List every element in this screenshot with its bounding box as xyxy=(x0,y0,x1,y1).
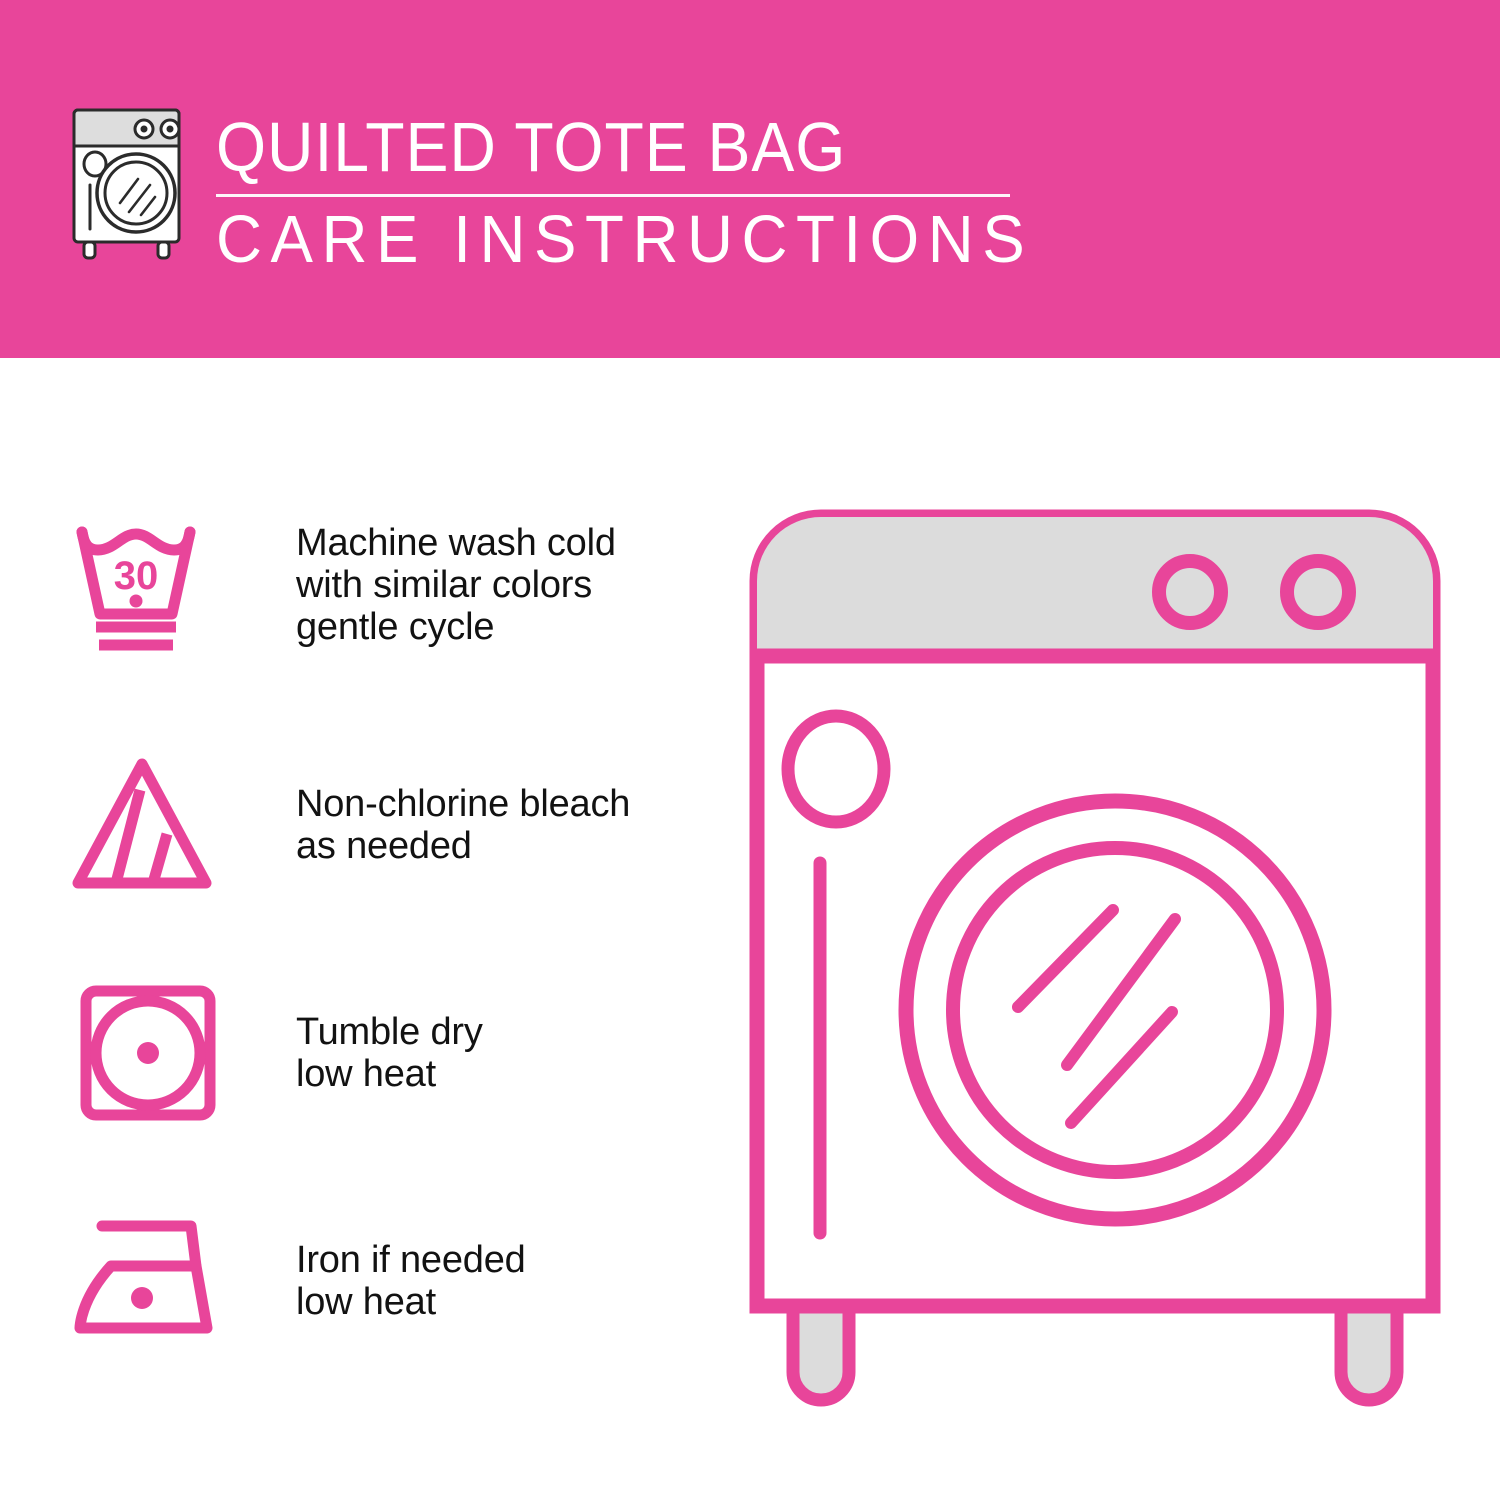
page-title: QUILTED TOTE BAG xyxy=(216,108,952,186)
care-instruction-text: Iron if needed low heat xyxy=(296,1239,526,1323)
iron-low-heat-icon xyxy=(66,1206,236,1356)
washer-leg xyxy=(793,1300,849,1400)
care-text-line: gentle cycle xyxy=(296,606,616,648)
care-instruction-list: 30 Machine wash cold with similar colors… xyxy=(0,358,700,1500)
care-text-line: low heat xyxy=(296,1281,526,1323)
care-text-line: low heat xyxy=(296,1053,483,1095)
care-instruction-row: Iron if needed low heat xyxy=(66,1206,526,1356)
care-instruction-row: Non-chlorine bleach as needed xyxy=(66,750,630,900)
page-subtitle: CARE INSTRUCTIONS xyxy=(216,203,976,277)
care-instruction-text: Tumble dry low heat xyxy=(296,1011,483,1095)
care-text-line: Machine wash cold xyxy=(296,522,616,564)
bleach-triangle-non-chlorine-icon xyxy=(66,750,236,900)
washing-machine-illustration xyxy=(735,495,1455,1425)
care-instruction-row: 30 Machine wash cold with similar colors… xyxy=(66,510,616,660)
washing-machine-icon xyxy=(66,105,194,260)
wash-temperature-label: 30 xyxy=(114,554,159,598)
care-text-line: Iron if needed xyxy=(296,1239,526,1281)
care-text-line: Non-chlorine bleach xyxy=(296,783,630,825)
header-text-block: QUILTED TOTE BAG CARE INSTRUCTIONS xyxy=(216,108,1016,277)
washer-control-panel xyxy=(757,517,1433,656)
tumble-dry-low-icon xyxy=(66,978,236,1128)
washer-leg xyxy=(1341,1300,1397,1400)
care-instruction-text: Non-chlorine bleach as needed xyxy=(296,783,630,867)
care-text-line: Tumble dry xyxy=(296,1011,483,1053)
care-instructions-page: QUILTED TOTE BAG CARE INSTRUCTIONS 30 xyxy=(0,0,1500,1500)
care-text-line: as needed xyxy=(296,825,630,867)
header-banner: QUILTED TOTE BAG CARE INSTRUCTIONS xyxy=(0,0,1500,358)
wash-tub-30-gentle-icon: 30 xyxy=(66,510,236,660)
care-instruction-text: Machine wash cold with similar colors ge… xyxy=(296,522,616,648)
care-instruction-row: Tumble dry low heat xyxy=(66,978,483,1128)
title-divider xyxy=(216,194,1010,197)
care-text-line: with similar colors xyxy=(296,564,616,606)
